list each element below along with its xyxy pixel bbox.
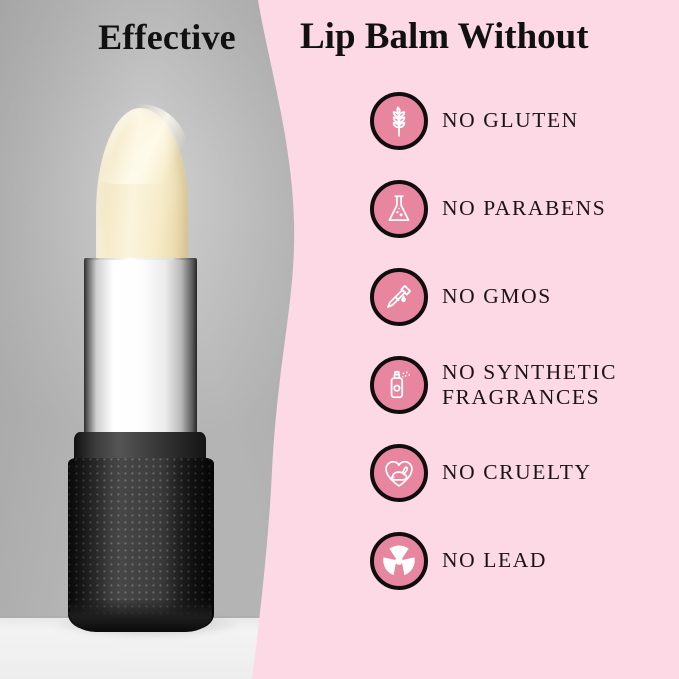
- list-item-label: NO PARABENS: [442, 196, 606, 221]
- spray-can-icon: [370, 356, 428, 414]
- dropper-icon: [370, 268, 428, 326]
- page-title-right: Lip Balm Without: [300, 17, 672, 58]
- list-item: NO CRUELTY: [370, 444, 592, 502]
- flask-icon: [370, 180, 428, 238]
- silver-barrel: [84, 260, 197, 442]
- list-item-label: NO GMOS: [442, 284, 552, 309]
- list-item: NO GMOS: [370, 268, 552, 326]
- heart-rabbit-icon: [370, 444, 428, 502]
- radioactive-icon: [370, 532, 428, 590]
- list-item: NO GLUTEN: [370, 92, 579, 150]
- base-bottom-edge: [70, 600, 212, 632]
- list-item: NO LEAD: [370, 532, 547, 590]
- list-item: NO SYNTHETIC FRAGRANCES: [370, 356, 617, 414]
- list-item-label: NO CRUELTY: [442, 460, 592, 485]
- list-item-label: NO SYNTHETIC FRAGRANCES: [442, 360, 617, 411]
- infographic-canvas: Effective Lip Balm Without NO GLUTEN: [0, 0, 679, 679]
- list-item: NO PARABENS: [370, 180, 606, 238]
- list-item-label: NO GLUTEN: [442, 108, 579, 133]
- wheat-icon: [370, 92, 428, 150]
- list-item-label: NO LEAD: [442, 548, 547, 573]
- page-title-left: Effective: [62, 18, 272, 58]
